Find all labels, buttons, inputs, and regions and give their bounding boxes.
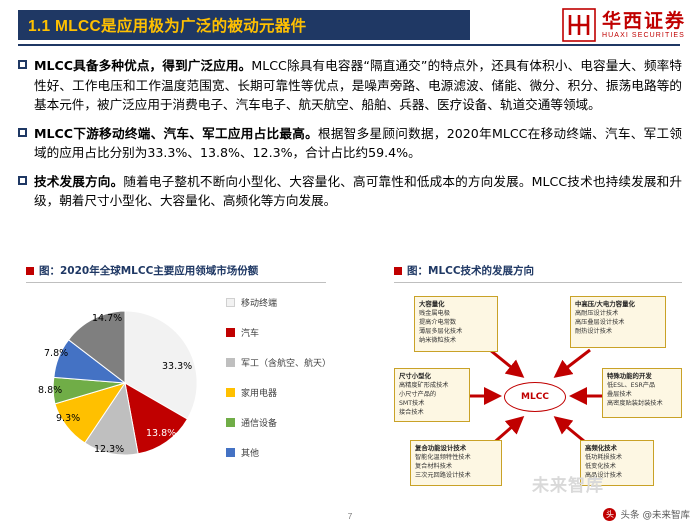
legend-item: 移动终端 <box>226 296 331 309</box>
legend-item: 军工（含航空、航天） <box>226 356 331 369</box>
legend-item: 家用电器 <box>226 386 331 399</box>
legend-label: 军工（含航空、航天） <box>241 356 331 369</box>
bullet-text: MLCC具备多种优点，得到广泛应用。MLCC除具有电容器“隔直通交”的特点外，还… <box>34 56 682 115</box>
slide-header: 1.1 MLCC是应用极为广泛的被动元器件 华西证券 HUAXI SECURIT… <box>0 0 700 62</box>
page-number: 7 <box>348 511 353 521</box>
legend-swatch-icon <box>226 358 235 367</box>
logo-text-cn: 华西证券 <box>602 11 686 31</box>
bullet-body: 随着电子整机不断向小型化、大容量化、高可靠性和低成本的方向发展。MLCC技术也持… <box>34 174 682 209</box>
pie-label-5: 7.8% <box>44 348 68 359</box>
watermark: 未来智库 <box>532 471 604 496</box>
node-line: 贱金属电极 <box>419 310 450 317</box>
node-title: 特殊功能的开发 <box>607 372 677 381</box>
node-line: 叠层技术 <box>607 391 632 398</box>
bullet-item: MLCC具备多种优点，得到广泛应用。MLCC除具有电容器“隔直通交”的特点外，还… <box>18 56 682 115</box>
node-line: 高压叠层设计技术 <box>575 319 625 326</box>
logo-mark-icon <box>562 8 596 42</box>
caption-square-icon <box>26 267 34 275</box>
pie-label-4: 8.8% <box>38 385 62 396</box>
logo-text-en: HUAXI SECURITIES <box>602 31 686 40</box>
diagram-node-miniature: 尺寸小型化 高精度矿形成技术 小尺寸产品的 SMT技术 接合技术 <box>394 368 470 422</box>
pie-label-0: 33.3% <box>162 361 192 372</box>
node-line: 小尺寸产品的 <box>399 391 436 398</box>
legend-label: 移动终端 <box>241 296 277 309</box>
legend-swatch-icon <box>226 298 235 307</box>
legend-label: 通信设备 <box>241 416 277 429</box>
bullet-marker-icon <box>18 60 27 69</box>
pie-label-6: 14.7% <box>92 313 122 324</box>
pie-label-1: 13.8% <box>146 428 176 439</box>
node-line: 耐热设计技术 <box>575 328 612 335</box>
company-logo: 华西证券 HUAXI SECURITIES <box>562 6 686 44</box>
page-title-bar: 1.1 MLCC是应用极为广泛的被动元器件 <box>18 10 470 40</box>
right-figure-caption: 图：MLCC技术的发展方向 <box>394 263 534 278</box>
body-text: MLCC具备多种优点，得到广泛应用。MLCC除具有电容器“隔直通交”的特点外，还… <box>18 56 682 220</box>
node-line: SMT技术 <box>399 400 424 407</box>
footer: 7 头 头条 @未来智库 <box>0 502 700 524</box>
legend-label: 家用电器 <box>241 386 277 399</box>
pie-legend: 移动终端 汽车 军工（含航空、航天） 家用电器 通信设备 其他 <box>226 296 331 476</box>
diagram-node-special: 特殊功能的开发 低ESL、ESR产品 叠层技术 高密度贴装封装技术 <box>602 368 682 418</box>
node-title: 中高压/大电力容量化 <box>575 300 661 309</box>
node-line: 高耐压设计技术 <box>575 310 618 317</box>
slide: 1.1 MLCC是应用极为广泛的被动元器件 华西证券 HUAXI SECURIT… <box>0 0 700 524</box>
node-title: 复合功能设计技术 <box>415 444 497 453</box>
right-caption-divider <box>394 282 682 283</box>
legend-swatch-icon <box>226 418 235 427</box>
bullet-item: 技术发展方向。随着电子整机不断向小型化、大容量化、高可靠性和低成本的方向发展。M… <box>18 172 682 211</box>
toutiao-badge-icon: 头 <box>603 508 616 521</box>
toutiao-attribution: 头 头条 @未来智库 <box>603 507 690 521</box>
pie-chart: 33.3% 13.8% 12.3% 9.3% 8.8% 7.8% 14.7% 移… <box>30 288 360 503</box>
node-line: 高密度贴装封装技术 <box>607 400 663 407</box>
node-line: 智能化温频特性技术 <box>415 454 471 461</box>
node-line: 接合技术 <box>399 409 424 416</box>
page-title: 1.1 MLCC是应用极为广泛的被动元器件 <box>28 14 306 36</box>
bullet-marker-icon <box>18 128 27 137</box>
legend-item: 其他 <box>226 446 331 459</box>
bullet-marker-icon <box>18 176 27 185</box>
node-line: 提高介电常数 <box>419 319 456 326</box>
node-line: 低功耗损技术 <box>585 454 622 461</box>
caption-square-icon <box>394 267 402 275</box>
node-line: 三次元回路设计技术 <box>415 472 471 479</box>
bullet-lead: 技术发展方向。 <box>34 174 123 189</box>
node-line: 低变化技术 <box>585 463 616 470</box>
node-line: 纳米微粒技术 <box>419 337 456 344</box>
legend-item: 通信设备 <box>226 416 331 429</box>
legend-swatch-icon <box>226 388 235 397</box>
legend-label: 其他 <box>241 446 259 459</box>
legend-swatch-icon <box>226 448 235 457</box>
toutiao-text: 头条 @未来智库 <box>620 507 690 521</box>
left-caption-divider <box>26 282 326 283</box>
bullet-text: MLCC下游移动终端、汽车、军工应用占比最高。根据智多星顾问数据，2020年ML… <box>34 124 682 163</box>
bullet-lead: MLCC具备多种优点，得到广泛应用。 <box>34 58 251 73</box>
node-line: 高精度矿形成技术 <box>399 382 449 389</box>
node-title: 尺寸小型化 <box>399 372 465 381</box>
bullet-lead: MLCC下游移动终端、汽车、军工应用占比最高。 <box>34 126 318 141</box>
legend-item: 汽车 <box>226 326 331 339</box>
bullet-text: 技术发展方向。随着电子整机不断向小型化、大容量化、高可靠性和低成本的方向发展。M… <box>34 172 682 211</box>
legend-label: 汽车 <box>241 326 259 339</box>
node-line: 薄层多层化技术 <box>419 328 462 335</box>
pie-label-2: 12.3% <box>94 444 124 455</box>
node-line: 低ESL、ESR产品 <box>607 382 655 389</box>
bullet-item: MLCC下游移动终端、汽车、军工应用占比最高。根据智多星顾问数据，2020年ML… <box>18 124 682 163</box>
left-caption-text: 图：2020年全球MLCC主要应用领域市场份额 <box>39 263 258 278</box>
legend-swatch-icon <box>226 328 235 337</box>
title-divider <box>18 44 680 46</box>
diagram-node-composite: 复合功能设计技术 智能化温频特性技术 复合材料技术 三次元回路设计技术 <box>410 440 502 486</box>
pie-label-3: 9.3% <box>56 413 80 424</box>
diagram-node-highvoltage: 中高压/大电力容量化 高耐压设计技术 高压叠层设计技术 耐热设计技术 <box>570 296 666 348</box>
left-figure-caption: 图：2020年全球MLCC主要应用领域市场份额 <box>26 263 258 278</box>
node-title: 大容量化 <box>419 300 493 309</box>
diagram-node-capacity: 大容量化 贱金属电极 提高介电常数 薄层多层化技术 纳米微粒技术 <box>414 296 498 352</box>
node-line: 复合材料技术 <box>415 463 452 470</box>
node-title: 高频化技术 <box>585 444 649 453</box>
diagram-center-node: MLCC <box>504 382 566 412</box>
right-caption-text: 图：MLCC技术的发展方向 <box>407 263 534 278</box>
pie-chart-svg <box>30 288 220 478</box>
